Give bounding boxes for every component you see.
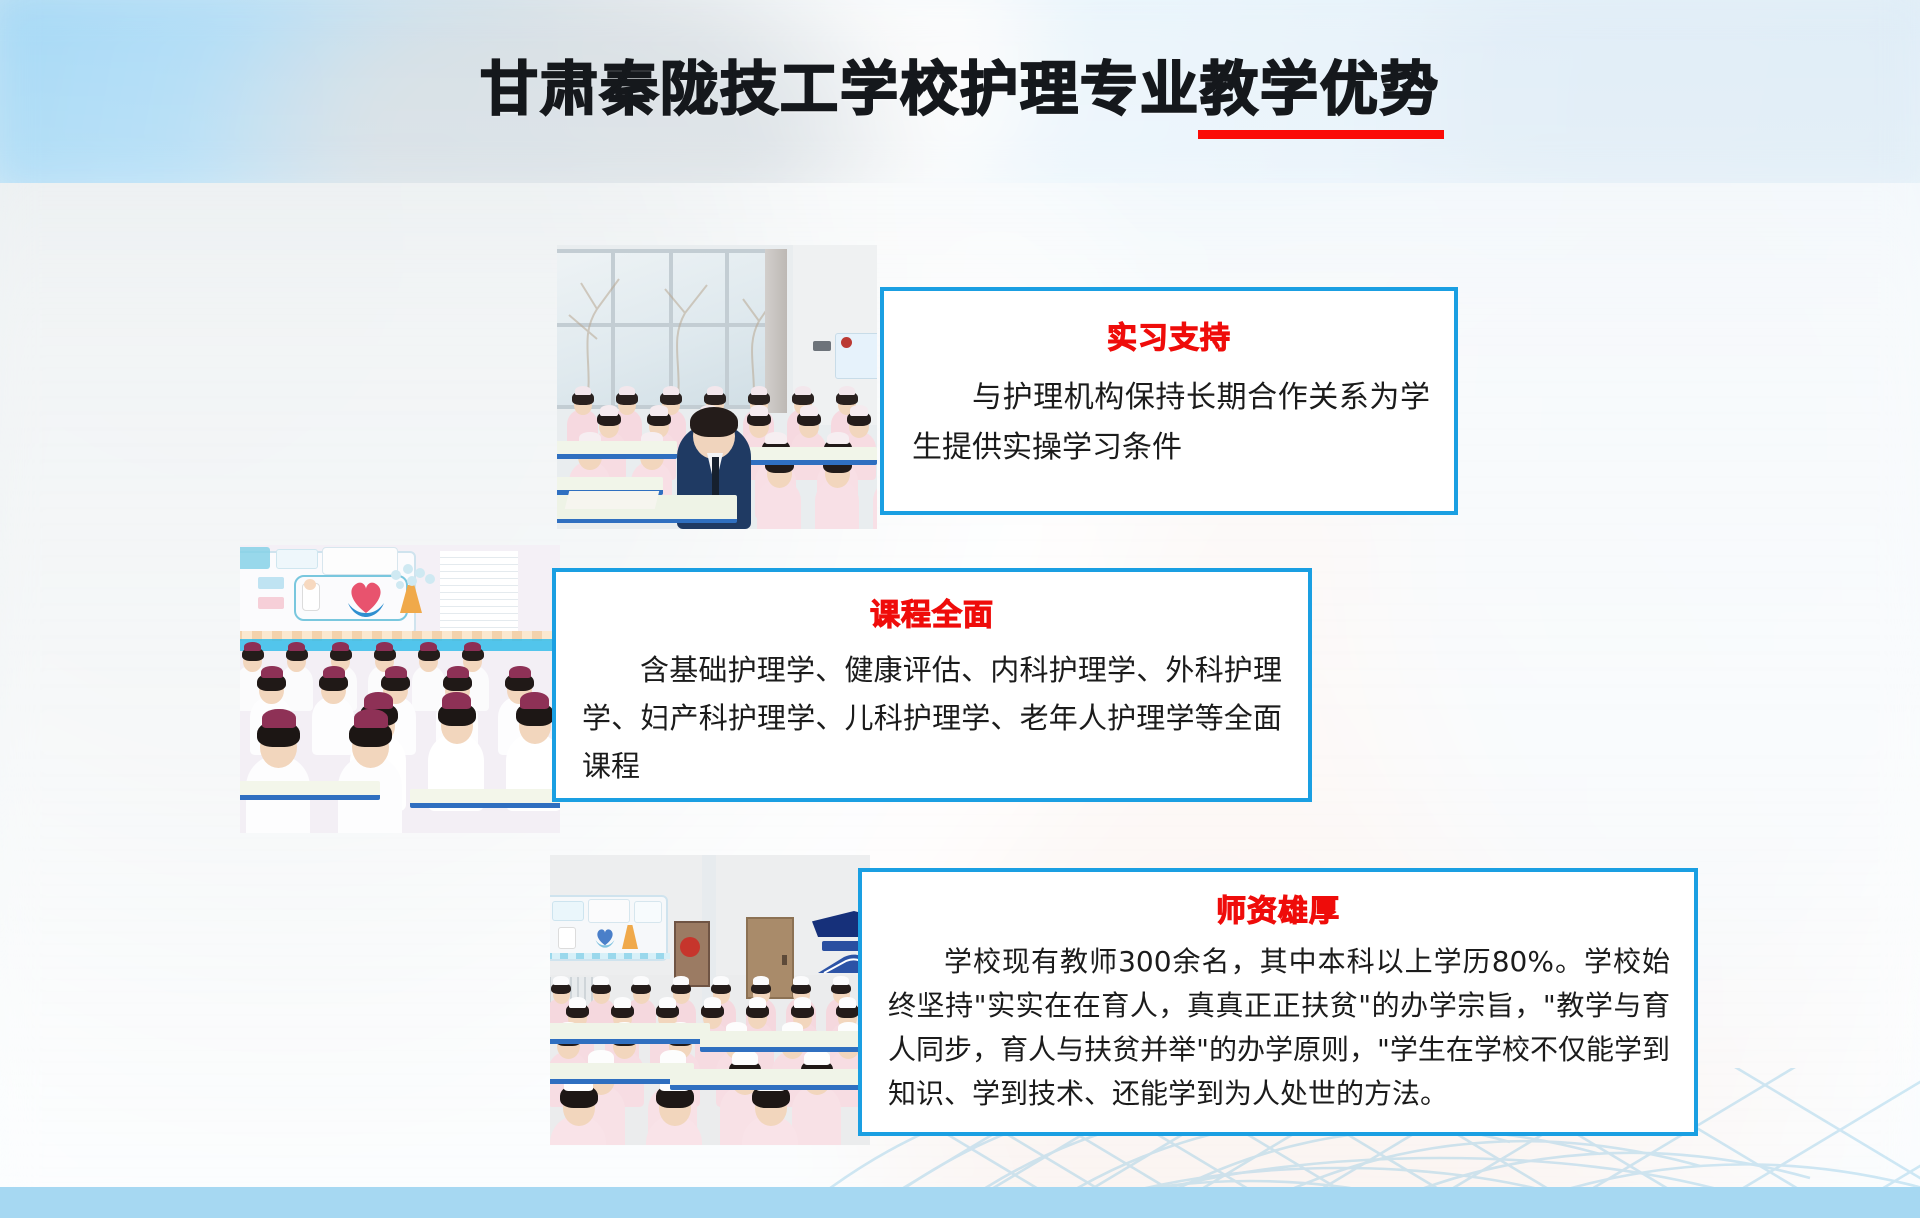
card-heading: 实习支持 xyxy=(884,313,1454,357)
card-body-text: 与护理机构保持长期合作关系为学生提供实操学习条件 xyxy=(884,373,1454,473)
student-figure xyxy=(509,666,531,679)
student-figure xyxy=(550,1023,710,1044)
card-heading: 师资雄厚 xyxy=(862,886,1694,930)
student-figure xyxy=(312,696,354,755)
page-title-underlined: 教学优势 xyxy=(1200,55,1440,123)
student-figure xyxy=(593,976,609,985)
student-figure xyxy=(323,666,345,679)
student-figure xyxy=(364,692,393,709)
student-figure xyxy=(633,976,649,985)
student-figure xyxy=(575,386,591,395)
student-figure xyxy=(765,432,786,444)
student-figure xyxy=(332,642,349,652)
student-figure xyxy=(753,976,769,985)
page-title: 甘肃秦陇技工学校护理专业教学优势 xyxy=(480,52,1440,126)
student-figure xyxy=(659,997,677,1007)
student-figure xyxy=(750,405,768,416)
student-figure xyxy=(410,789,560,808)
page-title-plain: 甘肃秦陇技工学校护理专业 xyxy=(480,55,1200,123)
student-figure xyxy=(557,441,677,459)
card-body-text: 含基础护理学、健康评估、内科护理学、外科护理学、妇产科护理学、儿科护理学、老年人… xyxy=(556,646,1308,790)
student-figure xyxy=(442,692,471,709)
student-figure xyxy=(619,386,635,395)
student-figure xyxy=(569,997,587,1007)
student-figure xyxy=(663,386,679,395)
student-figure xyxy=(420,642,437,652)
student-figure xyxy=(804,1050,830,1065)
student-figure xyxy=(827,432,848,444)
student-figure xyxy=(376,642,393,652)
student-figure xyxy=(700,1031,870,1052)
student-figure xyxy=(447,666,469,679)
student-figure xyxy=(800,405,818,416)
student-figure xyxy=(354,709,388,728)
student-figure xyxy=(704,997,722,1007)
student-figure xyxy=(261,666,283,679)
student-figure xyxy=(288,642,305,652)
student-figure xyxy=(751,386,767,395)
student-figure xyxy=(707,386,723,395)
student-figure xyxy=(614,997,632,1007)
student-figure xyxy=(670,1069,870,1090)
classroom-photo-2 xyxy=(240,545,560,833)
student-figure xyxy=(464,642,481,652)
student-figure xyxy=(240,781,380,800)
classroom-photo-3 xyxy=(550,855,870,1145)
card-body-text: 学校现有教师300余名，其中本科以上学历80%。学校始终坚持"实实在在育人，真真… xyxy=(862,940,1694,1116)
classroom-photo-1 xyxy=(557,245,877,529)
student-figure xyxy=(385,666,407,679)
student-figure xyxy=(244,642,261,652)
student-figure xyxy=(262,709,296,728)
slide-canvas: 甘肃秦陇技工学校护理专业教学优势 xyxy=(0,0,1920,1218)
student-figure xyxy=(520,692,549,709)
student-figure xyxy=(839,386,855,395)
bottom-blue-band xyxy=(0,1187,1920,1218)
student-figure xyxy=(673,976,689,985)
student-figure xyxy=(732,1050,758,1065)
student-figure xyxy=(650,405,668,416)
student-figure xyxy=(795,386,811,395)
student-figure xyxy=(749,997,767,1007)
student-figure xyxy=(833,976,849,985)
student-figure xyxy=(850,405,868,416)
page-title-wrapper: 甘肃秦陇技工学校护理专业教学优势 xyxy=(0,52,1920,126)
student-figure xyxy=(600,405,618,416)
feature-card-internship[interactable]: 实习支持 与护理机构保持长期合作关系为学生提供实操学习条件 xyxy=(880,287,1458,515)
student-figure xyxy=(839,997,857,1007)
student-figure xyxy=(553,976,569,985)
student-figure xyxy=(793,976,809,985)
feature-card-curriculum[interactable]: 课程全面 含基础护理学、健康评估、内科护理学、外科护理学、妇产科护理学、儿科护理… xyxy=(552,568,1312,802)
student-figure xyxy=(713,976,729,985)
card-heading: 课程全面 xyxy=(556,590,1308,634)
student-figure xyxy=(794,997,812,1007)
feature-card-faculty[interactable]: 师资雄厚 学校现有教师300余名，其中本科以上学历80%。学校始终坚持"实实在在… xyxy=(858,868,1698,1136)
